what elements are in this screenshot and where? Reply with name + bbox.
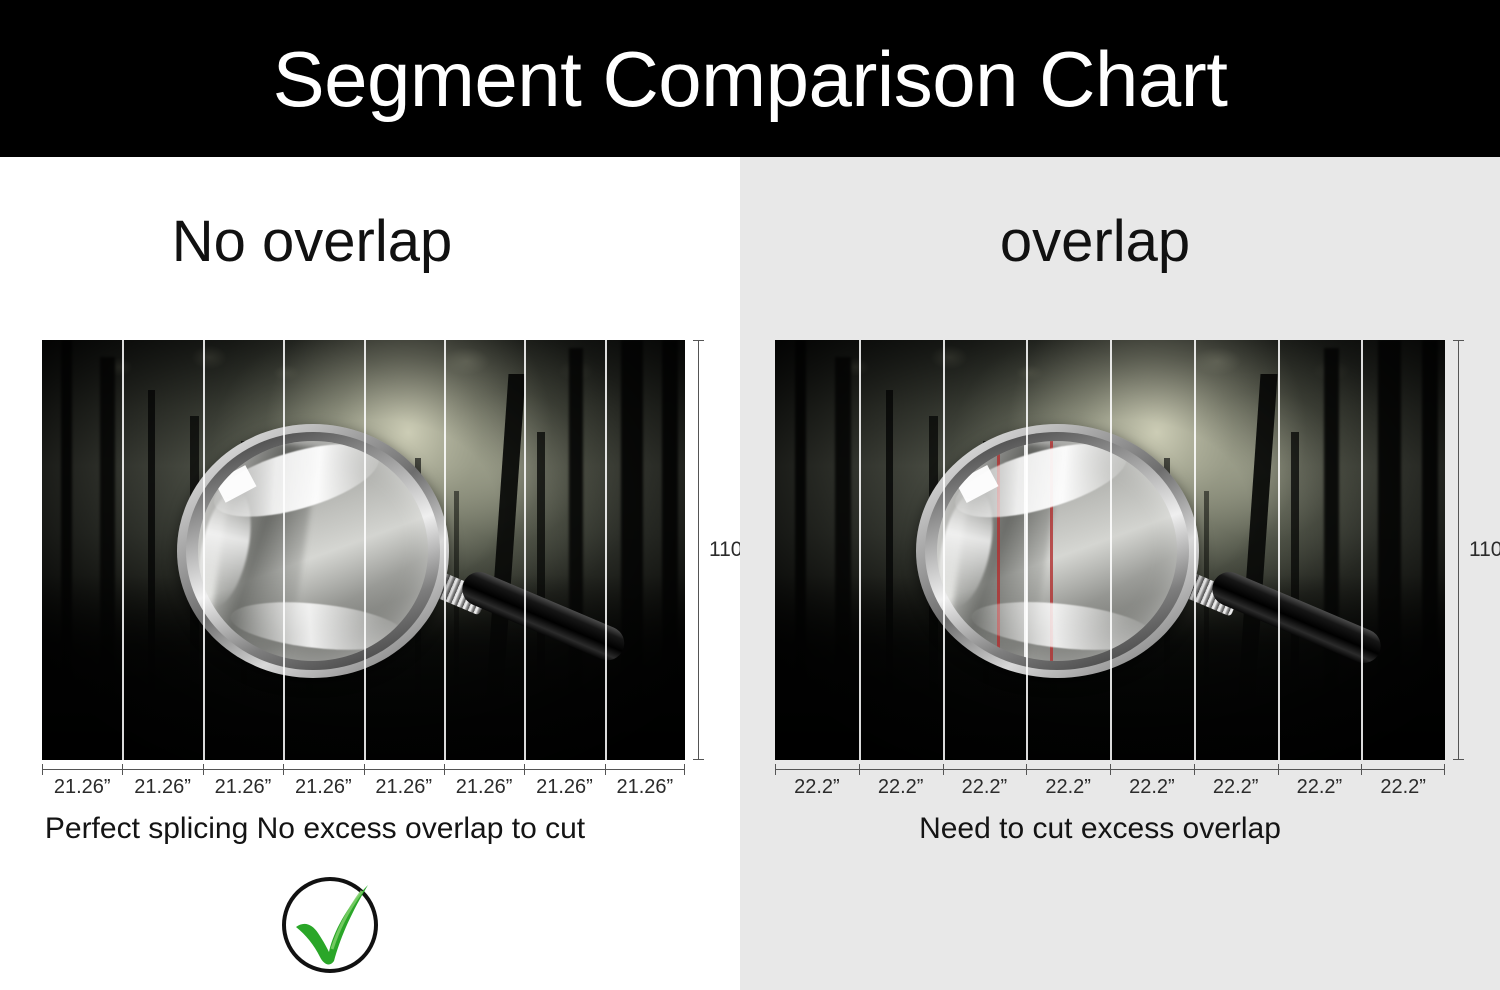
segment-divider: [1026, 340, 1028, 760]
figure-overlap: 110” 22.2” 22.2” 22.2” 22.2” 22.2” 22.2”…: [775, 340, 1445, 760]
dimension-cap-bottom: [693, 759, 704, 760]
panel-no-overlap: No overlap: [0, 157, 740, 990]
segment-width-label: 21.26”: [364, 776, 444, 799]
segment-divider: [1361, 340, 1363, 760]
segment-divider: [203, 340, 205, 760]
segment-divider: [1278, 340, 1280, 760]
segment-width-labels-left: 21.26” 21.26” 21.26” 21.26” 21.26” 21.26…: [42, 776, 685, 799]
segment-width-label: 22.2”: [943, 776, 1027, 799]
figure-no-overlap: 110” 21.26” 21.26” 21.26” 21.26” 21.26” …: [42, 340, 685, 760]
green-check-icon: [274, 869, 386, 981]
panel-heading-overlap: overlap: [715, 213, 1475, 271]
segment-divider: [1194, 340, 1196, 760]
dimension-tick: [1026, 764, 1027, 775]
segment-width-label: 21.26”: [444, 776, 524, 799]
height-dimension-label: 110”: [1469, 538, 1500, 562]
segment-width-label: 22.2”: [1026, 776, 1110, 799]
dimension-line: [1458, 340, 1459, 760]
dimension-tick: [1110, 764, 1111, 775]
dimension-tick: [444, 764, 445, 775]
page-header: Segment Comparison Chart: [0, 0, 1500, 157]
segment-divider: [283, 340, 285, 760]
panel-overlap: overlap: [740, 157, 1500, 990]
segment-width-label: 22.2”: [1278, 776, 1362, 799]
dimension-tick: [1194, 764, 1195, 775]
caption-no-overlap: Perfect splicing No excess overlap to cu…: [0, 812, 685, 846]
panel-heading-no-overlap: No overlap: [0, 213, 682, 271]
segment-divider: [444, 340, 446, 760]
segment-divider: [122, 340, 124, 760]
segment-width-label: 21.26”: [605, 776, 685, 799]
segment-width-label: 22.2”: [859, 776, 943, 799]
dimension-tick: [364, 764, 365, 775]
dimension-tick: [1444, 764, 1445, 775]
dimension-tick: [684, 764, 685, 775]
dimension-line: [698, 340, 699, 760]
dimension-tick: [203, 764, 204, 775]
segment-width-label: 22.2”: [775, 776, 859, 799]
segment-width-label: 22.2”: [1361, 776, 1445, 799]
segment-divider: [524, 340, 526, 760]
segment-divider: [859, 340, 861, 760]
segment-divider-lines-right: [775, 340, 1445, 760]
segment-width-label: 21.26”: [524, 776, 604, 799]
dimension-tick: [943, 764, 944, 775]
dimension-tick: [775, 764, 776, 775]
segment-divider: [605, 340, 607, 760]
segment-width-label: 21.26”: [203, 776, 283, 799]
dimension-tick: [283, 764, 284, 775]
segment-divider: [943, 340, 945, 760]
segment-divider: [364, 340, 366, 760]
dimension-tick: [1278, 764, 1279, 775]
forest-photo-left: [42, 340, 685, 760]
segment-divider-lines-left: [42, 340, 685, 760]
segment-divider: [1110, 340, 1112, 760]
segment-width-label: 22.2”: [1194, 776, 1278, 799]
dimension-tick: [605, 764, 606, 775]
forest-photo-right: [775, 340, 1445, 760]
caption-overlap: Need to cut excess overlap: [720, 812, 1480, 846]
dimension-cap-bottom: [1453, 759, 1464, 760]
segment-width-label: 21.26”: [283, 776, 363, 799]
dimension-tick: [859, 764, 860, 775]
segment-width-label: 21.26”: [122, 776, 202, 799]
dimension-tick: [42, 764, 43, 775]
dimension-tick: [524, 764, 525, 775]
dimension-tick: [122, 764, 123, 775]
dimension-tick: [1361, 764, 1362, 775]
segment-width-labels-right: 22.2” 22.2” 22.2” 22.2” 22.2” 22.2” 22.2…: [775, 776, 1445, 799]
page-title: Segment Comparison Chart: [273, 40, 1228, 118]
segment-width-label: 21.26”: [42, 776, 122, 799]
segment-width-label: 22.2”: [1110, 776, 1194, 799]
